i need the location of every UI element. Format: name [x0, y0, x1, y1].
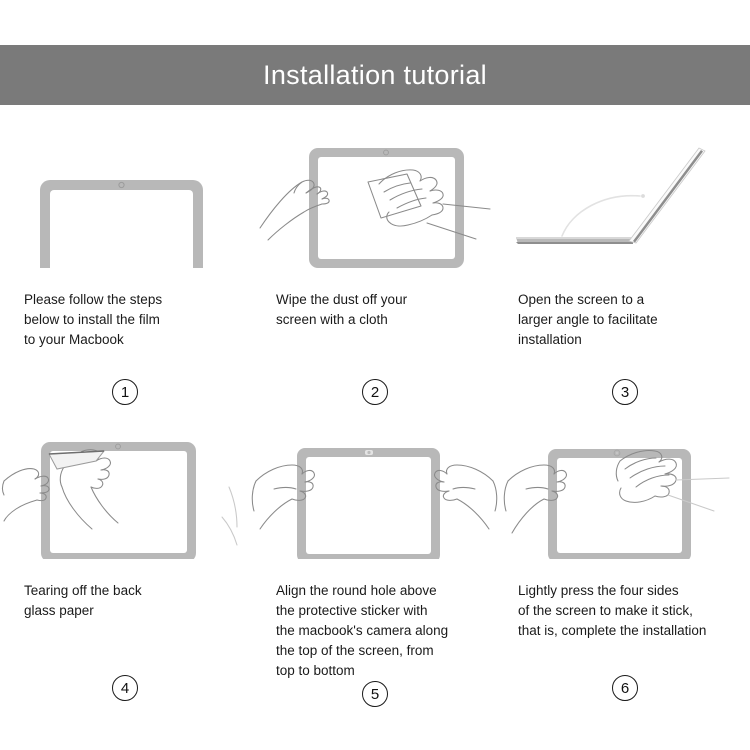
steps-row-2: Tearing off the back glass paper 4 [0, 415, 750, 715]
step-card-6: Lightly press the four sides of the scre… [500, 415, 750, 715]
step-5-caption: Align the round hole above the protectiv… [250, 581, 500, 681]
step-3-caption: Open the screen to a larger angle to fac… [500, 290, 750, 350]
step-number-badge: 1 [112, 379, 138, 405]
step-card-4: Tearing off the back glass paper 4 [0, 415, 250, 715]
hand-wiping-screen-with-cloth-icon [250, 138, 500, 268]
hand-pressing-screen-sides-icon [500, 429, 750, 559]
step-2-number-wrap: 2 [250, 379, 500, 415]
step-2-figure [250, 138, 500, 268]
step-2-caption: Wipe the dust off your screen with a clo… [250, 290, 500, 330]
step-4-figure [0, 429, 250, 559]
step-6-caption: Lightly press the four sides of the scre… [500, 581, 750, 641]
step-4-number-wrap: 4 [0, 675, 250, 715]
step-1-number-wrap: 1 [0, 379, 250, 415]
step-number-badge: 6 [612, 675, 638, 701]
step-4-caption: Tearing off the back glass paper [0, 581, 250, 621]
header-band: Installation tutorial [0, 45, 750, 105]
step-number-badge: 3 [612, 379, 638, 405]
step-number-badge: 4 [112, 675, 138, 701]
step-number-badge: 5 [362, 681, 388, 707]
step-5-number-wrap: 5 [250, 681, 500, 721]
step-number-badge: 2 [362, 379, 388, 405]
step-6-number-wrap: 6 [500, 675, 750, 715]
step-card-2: Wipe the dust off your screen with a clo… [250, 120, 500, 415]
step-1-figure [0, 138, 250, 268]
laptop-open-angle-icon [500, 138, 750, 268]
step-1-caption: Please follow the steps below to install… [0, 290, 250, 350]
step-6-figure [500, 429, 750, 559]
step-card-1: Please follow the steps below to install… [0, 120, 250, 415]
step-3-number-wrap: 3 [500, 379, 750, 415]
step-5-figure [250, 429, 500, 559]
steps-row-1: Please follow the steps below to install… [0, 120, 750, 415]
page-title: Installation tutorial [263, 62, 487, 89]
step-card-5: Align the round hole above the protectiv… [250, 415, 500, 715]
two-hands-aligning-film-icon [250, 429, 500, 559]
step-3-figure [500, 138, 750, 268]
hand-tearing-back-paper-icon [0, 429, 250, 559]
steps-grid: Please follow the steps below to install… [0, 120, 750, 715]
macbook-screen-with-peeling-film-icon [0, 138, 250, 268]
step-card-3: Open the screen to a larger angle to fac… [500, 120, 750, 415]
